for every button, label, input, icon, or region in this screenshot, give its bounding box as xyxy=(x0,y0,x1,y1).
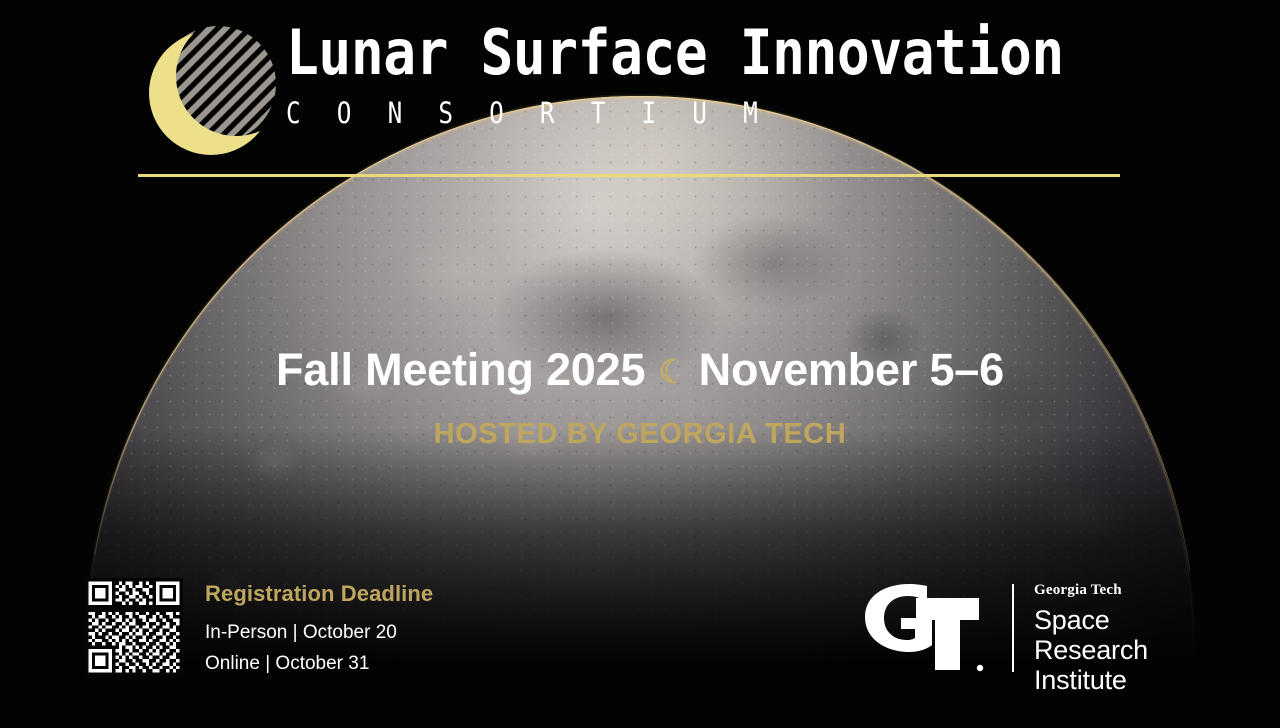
meeting-dates: November 5–6 xyxy=(699,344,1004,395)
poster-title: Lunar Surface Innovation xyxy=(286,22,1064,84)
deadline-in-person: In-Person | October 20 xyxy=(205,618,433,647)
meeting-title-line: Fall Meeting 2025☾November 5–6 xyxy=(0,344,1280,400)
lsic-crescent-moon-logo xyxy=(140,22,282,164)
gt-lockup-text: Georgia Tech Space Research Institute xyxy=(1034,580,1217,695)
georgia-tech-space-research-institute-lockup: Georgia Tech Space Research Institute xyxy=(857,582,1217,678)
poster-header: Lunar Surface Innovation CONSORTIUM xyxy=(0,0,1280,190)
gt-unit-name-line-2: Institute xyxy=(1034,665,1217,695)
qr-code-icon[interactable] xyxy=(78,578,190,676)
lsic-wordmark: Lunar Surface Innovation CONSORTIUM xyxy=(286,22,1170,129)
gold-divider-rule xyxy=(138,174,1120,177)
poster-subtitle: CONSORTIUM xyxy=(286,97,1028,129)
meeting-name: Fall Meeting 2025 xyxy=(276,344,645,395)
event-details: Fall Meeting 2025☾November 5–6 HOSTED BY… xyxy=(0,344,1280,451)
registration-deadline-block: Registration Deadline In-Person | Octobe… xyxy=(205,580,433,678)
crescent-moon-icon: ☾ xyxy=(658,353,687,390)
gt-unit-name-line-1: Space Research xyxy=(1034,605,1217,665)
registration-deadline-title: Registration Deadline xyxy=(205,580,433,608)
georgia-tech-gt-monogram xyxy=(857,582,985,676)
deadline-online: Online | October 31 xyxy=(205,649,433,678)
gt-lockup-divider xyxy=(1012,584,1014,672)
lsic-fall-meeting-poster: Lunar Surface Innovation CONSORTIUM Fall… xyxy=(0,0,1280,728)
gt-eyebrow-label: Georgia Tech xyxy=(1034,580,1217,600)
hosted-by-label: HOSTED BY GEORGIA TECH xyxy=(0,417,1280,451)
